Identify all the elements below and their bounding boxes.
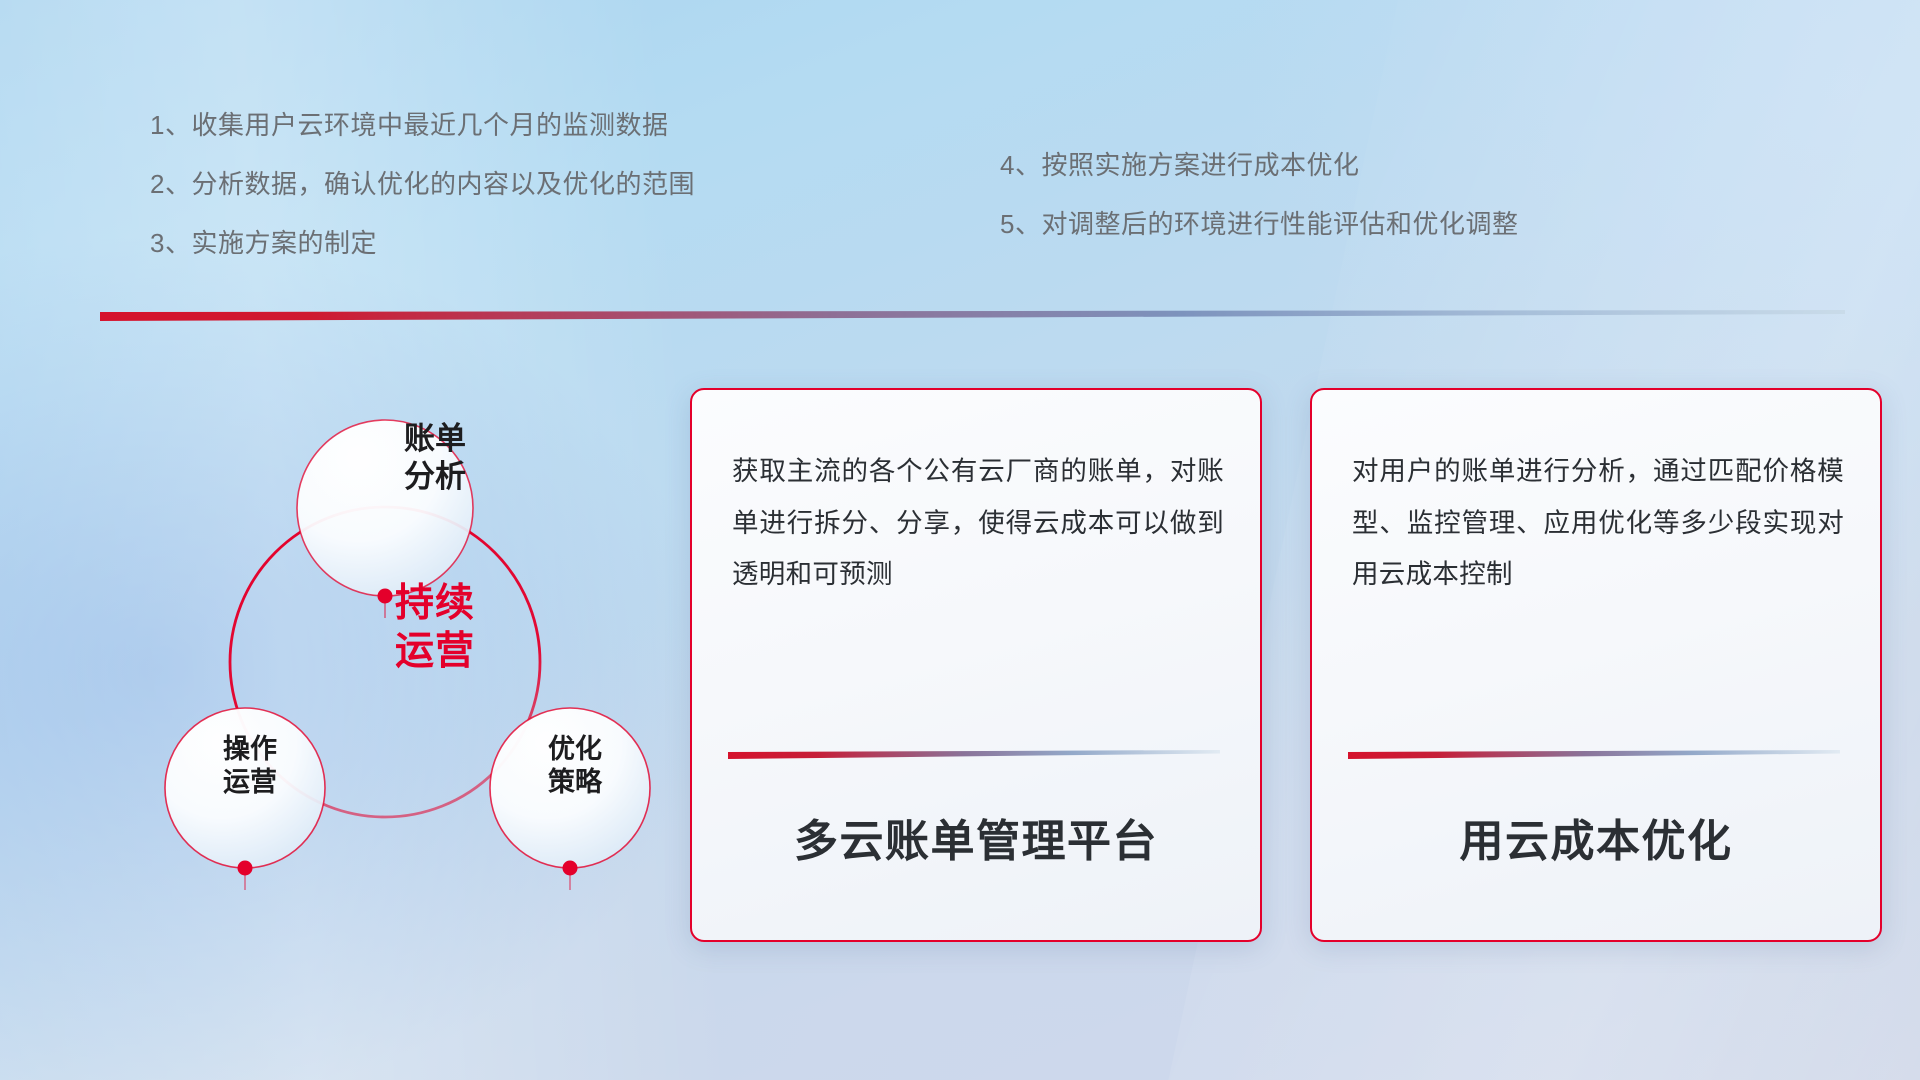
card-body-text: 获取主流的各个公有云厂商的账单，对账单进行拆分、分享，使得云成本可以做到透明和可… xyxy=(732,446,1224,601)
steps-list-right: 4、按照实施方案进行成本优化 5、对调整后的环境进行性能评估和优化调整 xyxy=(1000,152,1518,270)
card-divider xyxy=(728,750,1220,760)
card-body-text: 对用户的账单进行分析，通过匹配价格模型、监控管理、应用优化等多少段实现对用云成本… xyxy=(1352,446,1844,601)
list-item: 3、实施方案的制定 xyxy=(150,230,695,256)
top-divider xyxy=(100,310,1845,322)
list-item: 4、按照实施方案进行成本优化 xyxy=(1000,152,1518,178)
slide-canvas: 1、收集用户云环境中最近几个月的监测数据 2、分析数据，确认优化的内容以及优化的… xyxy=(0,0,1920,1080)
connector-dot-right xyxy=(563,861,578,876)
connector-dot-top xyxy=(378,589,393,604)
node-circle-top xyxy=(297,420,473,596)
card-divider xyxy=(1348,750,1840,760)
card-cloud-cost-optimization[interactable]: 对用户的账单进行分析，通过匹配价格模型、监控管理、应用优化等多少段实现对用云成本… xyxy=(1310,388,1882,942)
card-title: 用云成本优化 xyxy=(1312,805,1880,869)
list-item: 5、对调整后的环境进行性能评估和优化调整 xyxy=(1000,211,1518,237)
list-item: 1、收集用户云环境中最近几个月的监测数据 xyxy=(150,112,695,138)
diagram-svg xyxy=(95,350,655,960)
steps-list-left: 1、收集用户云环境中最近几个月的监测数据 2、分析数据，确认优化的内容以及优化的… xyxy=(150,112,695,289)
list-item: 2、分析数据，确认优化的内容以及优化的范围 xyxy=(150,171,695,197)
node-circle-right xyxy=(490,708,650,868)
connector-dot-left xyxy=(238,861,253,876)
circle-diagram: 账单 分析 操作 运营 优化 策略 持续 运营 xyxy=(95,350,655,960)
node-circle-left xyxy=(165,708,325,868)
card-title: 多云账单管理平台 xyxy=(692,805,1260,869)
card-multi-cloud-billing[interactable]: 获取主流的各个公有云厂商的账单，对账单进行拆分、分享，使得云成本可以做到透明和可… xyxy=(690,388,1262,942)
